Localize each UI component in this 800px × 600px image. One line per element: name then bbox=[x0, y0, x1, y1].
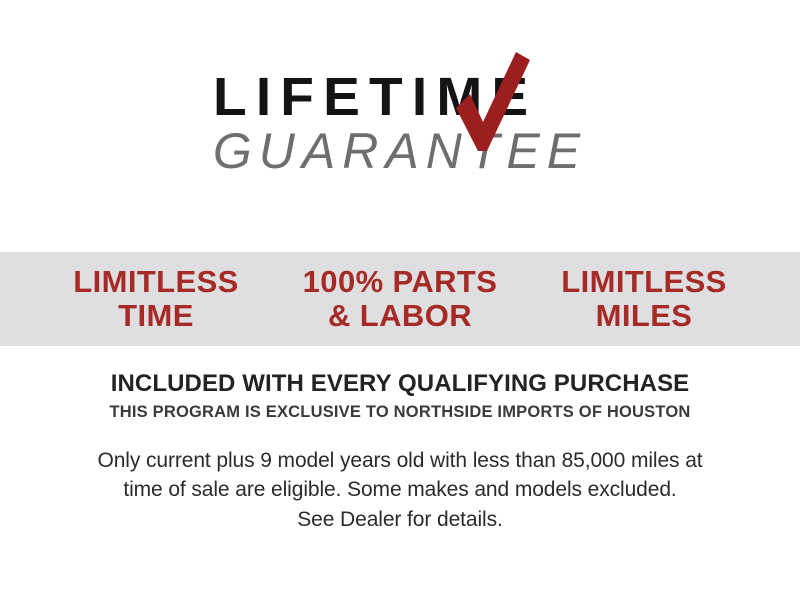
logo-block: LIFETIME GUARANTEE bbox=[0, 0, 800, 252]
feature-band: LIMITLESS TIME 100% PARTS & LABOR LIMITL… bbox=[0, 252, 800, 346]
fineprint-line-2: time of sale are eligible. Some makes an… bbox=[40, 475, 760, 505]
feature-limitless-miles: LIMITLESS MILES bbox=[522, 265, 766, 333]
lifetime-guarantee-ad: LIFETIME GUARANTEE LIMITLESS TIME 100% P… bbox=[0, 0, 800, 600]
logo-line-guarantee: GUARANTEE bbox=[213, 125, 587, 178]
fineprint-line-1: Only current plus 9 model years old with… bbox=[40, 446, 760, 476]
feature-parts-labor: 100% PARTS & LABOR bbox=[278, 265, 522, 333]
feature-3-line-2: MILES bbox=[522, 299, 766, 333]
logo-wordmark: LIFETIME GUARANTEE bbox=[213, 72, 587, 178]
feature-3-line-1: LIMITLESS bbox=[561, 264, 727, 299]
lower-text-block: INCLUDED WITH EVERY QUALIFYING PURCHASE … bbox=[0, 346, 800, 600]
feature-1-line-2: TIME bbox=[34, 299, 278, 333]
feature-limitless-time: LIMITLESS TIME bbox=[34, 265, 278, 333]
headline: INCLUDED WITH EVERY QUALIFYING PURCHASE bbox=[0, 371, 800, 397]
feature-2-line-1: 100% PARTS bbox=[303, 264, 498, 299]
feature-2-line-2: & LABOR bbox=[278, 299, 522, 333]
logo-line-lifetime: LIFETIME bbox=[213, 72, 595, 123]
feature-1-line-1: LIMITLESS bbox=[73, 264, 239, 299]
fineprint: Only current plus 9 model years old with… bbox=[40, 446, 760, 535]
subheadline: THIS PROGRAM IS EXCLUSIVE TO NORTHSIDE I… bbox=[0, 401, 800, 423]
fineprint-line-3: See Dealer for details. bbox=[40, 505, 760, 535]
